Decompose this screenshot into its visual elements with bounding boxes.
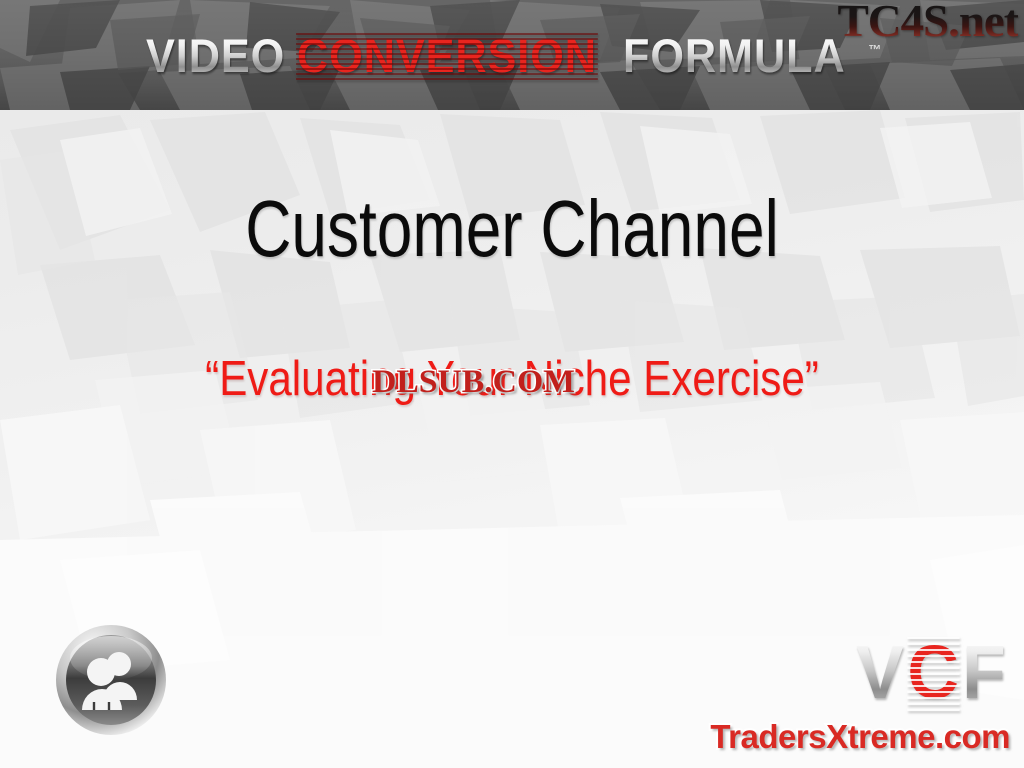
tc4s-site-logo[interactable]: TC4S.net — [837, 0, 1018, 44]
header-banner: VIDEO CONVERSION FORMULA ™ TC4S.net — [0, 0, 1024, 110]
brand-word-conversion: CONVERSION — [297, 32, 597, 79]
dlsub-watermark: DLSUB.COM — [372, 364, 575, 401]
users-icon — [53, 622, 169, 738]
slide-root: VIDEO CONVERSION FORMULA ™ TC4S.net Cust… — [0, 0, 1024, 768]
users-badge-button[interactable] — [53, 622, 169, 738]
tradersxtreme-site-logo[interactable]: TradersXtreme.com — [710, 718, 1010, 756]
vcf-footer-logo: V C F — [855, 635, 1008, 710]
vcf-letter-c: C — [907, 635, 959, 710]
vcf-letter-v: V — [856, 635, 904, 710]
brand-word-formula: FORMULA — [623, 32, 846, 79]
brand-wordmark: VIDEO CONVERSION FORMULA ™ — [146, 32, 882, 84]
brand-word-video: VIDEO — [146, 32, 285, 79]
vcf-letter-f: F — [962, 635, 1006, 710]
page-title: Customer Channel — [102, 186, 921, 272]
